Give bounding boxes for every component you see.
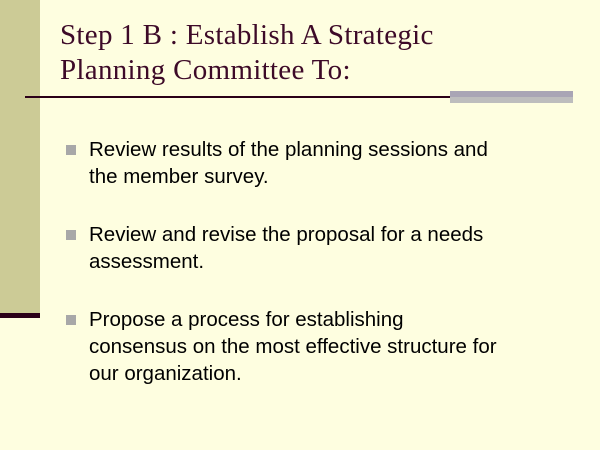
decorative-bar-bottom-stripe: [450, 97, 573, 103]
square-bullet-icon: [66, 315, 76, 325]
title-divider-rule: [25, 96, 451, 98]
list-item: Review and revise the proposal for a nee…: [62, 221, 572, 275]
title-decorative-bar: [450, 91, 573, 103]
left-decorative-band: [0, 0, 40, 313]
square-bullet-icon: [66, 230, 76, 240]
list-item-text: Propose a process for establishing conse…: [89, 306, 572, 387]
slide-title: Step 1 B : Establish A Strategic Plannin…: [60, 18, 580, 88]
list-item: Propose a process for establishing conse…: [62, 306, 572, 387]
square-bullet-icon: [66, 145, 76, 155]
left-band-underline: [0, 313, 40, 318]
slide-bullet-list: Review results of the planning sessions …: [62, 136, 572, 387]
list-item-text: Review results of the planning sessions …: [89, 136, 572, 190]
list-item: Review results of the planning sessions …: [62, 136, 572, 190]
presentation-slide: Step 1 B : Establish A Strategic Plannin…: [0, 0, 600, 450]
slide-title-block: Step 1 B : Establish A Strategic Plannin…: [60, 18, 580, 88]
list-item-text: Review and revise the proposal for a nee…: [89, 221, 572, 275]
